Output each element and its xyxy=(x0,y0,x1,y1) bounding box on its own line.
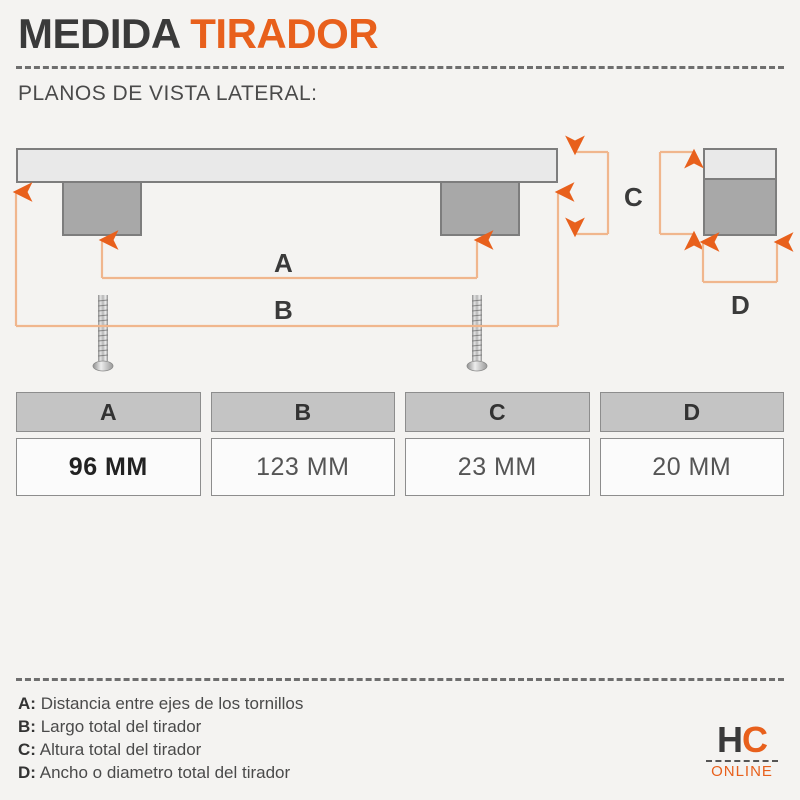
dimension-label-b: B xyxy=(274,295,293,326)
dimension-label-c: C xyxy=(624,182,643,213)
front-view-block-bottom xyxy=(705,180,775,234)
measurements-table: A 96 MM B 123 MM C 23 MM D 20 MM xyxy=(16,392,784,496)
logo-letter-h: H xyxy=(717,719,742,760)
legend-item-b: B: Largo total del tirador xyxy=(18,715,303,738)
table-header-c: C xyxy=(405,392,590,432)
legend-text-a: Distancia entre ejes de los tornillos xyxy=(41,694,304,713)
table-header-b: B xyxy=(211,392,396,432)
logo-divider xyxy=(706,760,778,762)
brand-logo: HC ONLINE xyxy=(706,722,778,781)
logo-letter-c: C xyxy=(742,719,767,760)
legend-key-a: A: xyxy=(18,694,36,713)
page-title: MEDIDA TIRADOR xyxy=(18,8,378,60)
legend-key-b: B: xyxy=(18,717,36,736)
legend-list: A: Distancia entre ejes de los tornillos… xyxy=(18,692,303,784)
screw-left-icon xyxy=(92,295,114,375)
front-view-block-shape xyxy=(703,148,777,236)
screw-right-icon xyxy=(466,295,488,375)
legend-item-c: C: Altura total del tirador xyxy=(18,738,303,761)
handle-bar-shape xyxy=(16,148,558,183)
divider-bottom xyxy=(16,678,784,681)
legend-key-d: D: xyxy=(18,763,36,782)
table-header-a: A xyxy=(16,392,201,432)
legend-text-b: Largo total del tirador xyxy=(41,717,202,736)
dimension-label-d: D xyxy=(731,290,750,321)
logo-letters: HC xyxy=(706,722,778,758)
handle-leg-right-shape xyxy=(440,183,520,236)
table-value-b: 123 MM xyxy=(211,438,396,496)
legend-item-d: D: Ancho o diametro total del tirador xyxy=(18,761,303,784)
table-column-a: A 96 MM xyxy=(16,392,201,496)
page-title-accent: TIRADOR xyxy=(190,10,378,57)
legend-text-c: Altura total del tirador xyxy=(40,740,202,759)
table-column-c: C 23 MM xyxy=(405,392,590,496)
table-value-d: 20 MM xyxy=(600,438,785,496)
table-column-d: D 20 MM xyxy=(600,392,785,496)
table-value-a: 96 MM xyxy=(16,438,201,496)
table-header-d: D xyxy=(600,392,785,432)
measurement-diagram-page: MEDIDA TIRADOR PLANOS DE VISTA LATERAL: xyxy=(0,0,800,800)
dimension-label-a: A xyxy=(274,248,293,279)
legend-text-d: Ancho o diametro total del tirador xyxy=(40,763,290,782)
logo-subtitle: ONLINE xyxy=(706,763,778,781)
front-view-block-top xyxy=(705,150,775,180)
legend-item-a: A: Distancia entre ejes de los tornillos xyxy=(18,692,303,715)
table-value-c: 23 MM xyxy=(405,438,590,496)
table-column-b: B 123 MM xyxy=(211,392,396,496)
divider-top xyxy=(16,66,784,69)
page-title-primary: MEDIDA xyxy=(18,10,179,57)
handle-leg-left-shape xyxy=(62,183,142,236)
side-view-drawing: A B C D xyxy=(0,130,800,380)
section-subtitle: PLANOS DE VISTA LATERAL: xyxy=(18,82,318,106)
legend-key-c: C: xyxy=(18,740,36,759)
